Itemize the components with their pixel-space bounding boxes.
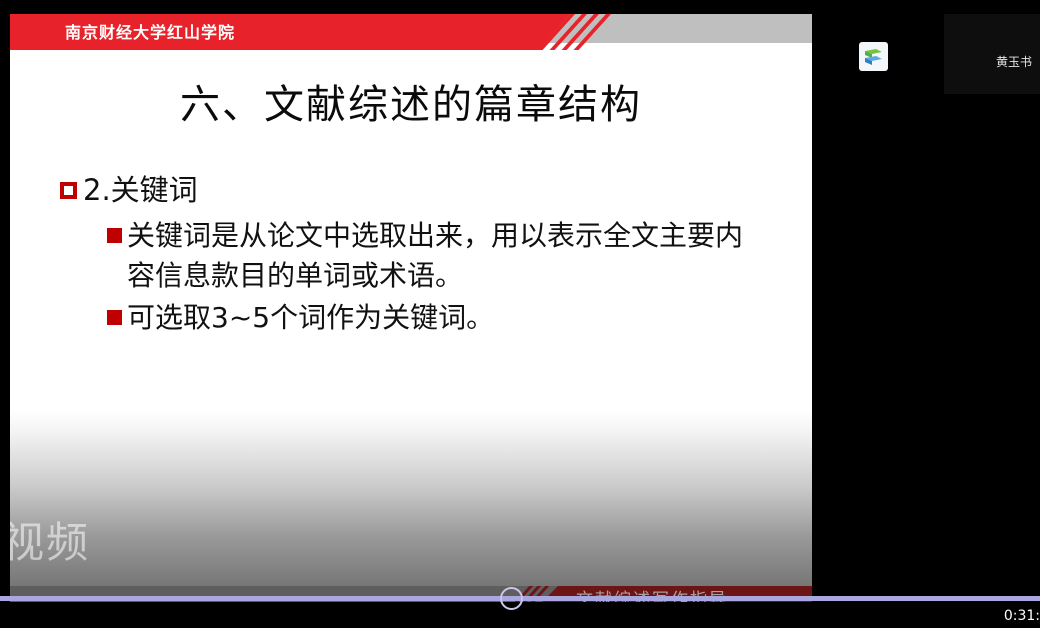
presentation-slide: 南京财经大学红山学院 六、文献综述的篇章结构 2.关键词 关键词是从论文中选取出… [10, 14, 812, 614]
bullet-level2: 可选取3~5个词作为关键词。 [107, 298, 780, 338]
bullet-level2-text: 关键词是从论文中选取出来，用以表示全文主要内容信息款目的单词或术语。 [127, 216, 767, 296]
hollow-square-bullet-icon [60, 182, 77, 199]
video-player-stage: 南京财经大学红山学院 六、文献综述的篇章结构 2.关键词 关键词是从论文中选取出… [0, 0, 1040, 628]
wps-logo-glyph [859, 42, 888, 71]
slide-watermark-text: 述视频 [10, 509, 90, 570]
solid-square-bullet-icon [107, 310, 122, 325]
organization-title: 南京财经大学红山学院 [65, 19, 235, 43]
solid-square-bullet-icon [107, 228, 122, 243]
slide-header-banner: 南京财经大学红山学院 [10, 14, 812, 50]
playback-time-display: 0:31: [1004, 608, 1040, 624]
bullet-level2-text: 可选取3~5个词作为关键词。 [127, 298, 494, 338]
bullet-level2: 关键词是从论文中选取出来，用以表示全文主要内容信息款目的单词或术语。 [107, 216, 780, 296]
bullet-level1: 2.关键词 [60, 172, 780, 208]
bullet-level1-label: 2.关键词 [83, 172, 198, 208]
wps-app-icon[interactable] [859, 42, 888, 71]
slide-body-content: 2.关键词 关键词是从论文中选取出来，用以表示全文主要内容信息款目的单词或术语。… [60, 172, 780, 340]
slide-title: 六、文献综述的篇章结构 [10, 72, 812, 130]
playback-progress-handle[interactable] [500, 587, 523, 610]
participant-name-label: 黄玉书 [996, 53, 1032, 70]
participant-video-tile[interactable]: 黄玉书 [944, 14, 1040, 94]
playback-progress-filled [0, 596, 512, 601]
